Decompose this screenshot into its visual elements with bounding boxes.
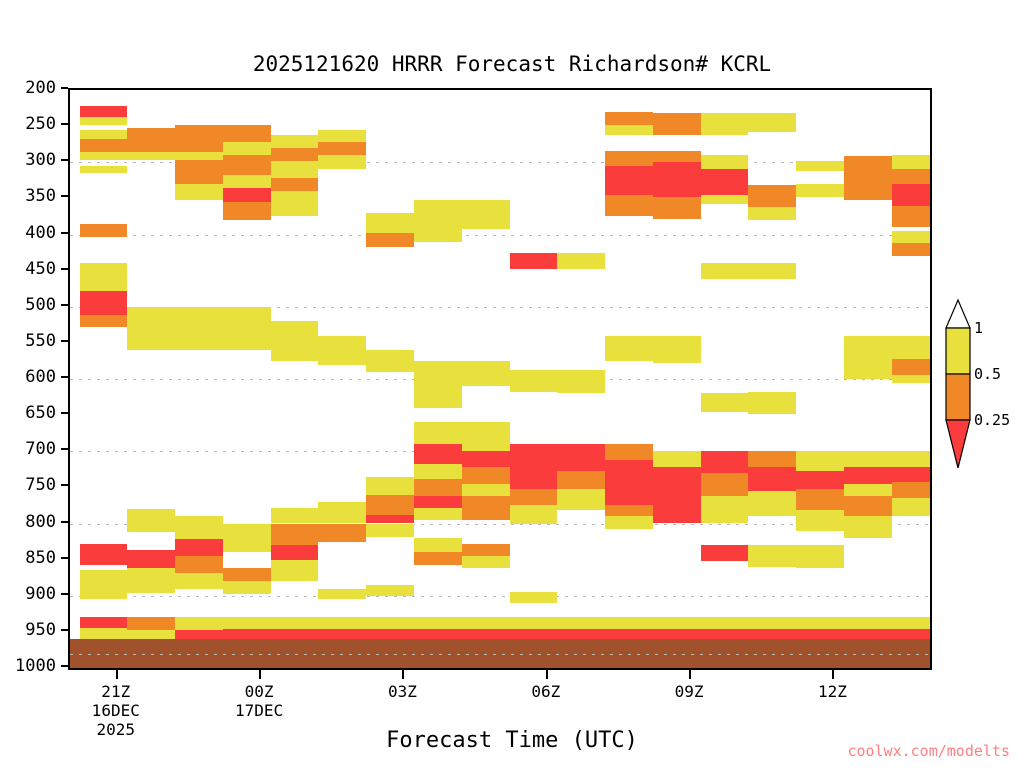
heatmap-cell <box>414 508 462 520</box>
y-tick-250 <box>61 123 68 125</box>
heatmap-cell <box>462 200 510 229</box>
heatmap-cell <box>796 161 844 171</box>
x-tick-label-03Z: 03Z <box>388 682 417 701</box>
heatmap-cell <box>892 243 932 256</box>
chart-canvas: 2025121620 HRRR Forecast Richardson# KCR… <box>0 0 1024 768</box>
heatmap-cell <box>318 617 366 629</box>
heatmap-cell <box>892 155 932 169</box>
heatmap-cell <box>701 113 749 135</box>
heatmap-cell <box>223 125 271 142</box>
heatmap-cell <box>557 253 605 270</box>
heatmap-cell <box>462 556 510 568</box>
heatmap-cell <box>510 444 558 469</box>
heatmap-cell <box>892 498 932 516</box>
x-tick-12Z <box>832 670 834 679</box>
heatmap-cell <box>223 568 271 581</box>
heatmap-cell <box>462 361 510 386</box>
x-tick-06Z <box>546 670 548 679</box>
heatmap-cell <box>701 263 749 279</box>
y-tick-200 <box>61 87 68 89</box>
heatmap-cell <box>318 629 366 639</box>
heatmap-cell <box>796 510 844 530</box>
heatmap-cell <box>605 151 653 165</box>
x-tick-03Z <box>402 670 404 679</box>
heatmap-cell <box>271 321 319 361</box>
heatmap-cell <box>748 491 796 516</box>
heatmap-cell <box>748 113 796 132</box>
heatmap-cell <box>892 359 932 376</box>
heatmap-cell <box>844 617 892 629</box>
y-tick-550 <box>61 340 68 342</box>
heatmap-cell <box>653 495 701 524</box>
heatmap-cell <box>605 505 653 516</box>
heatmap-cell <box>127 617 175 630</box>
heatmap-cell <box>175 169 223 183</box>
heatmap-cell <box>892 467 932 481</box>
y-tick-label-950: 950 <box>25 620 56 640</box>
x-tick-label-09Z: 09Z <box>675 682 704 701</box>
heatmap-cell <box>605 444 653 460</box>
y-tick-350 <box>61 195 68 197</box>
heatmap-cell <box>510 469 558 489</box>
y-tick-label-600: 600 <box>25 367 56 387</box>
x-tick-00Z <box>259 670 261 679</box>
heatmap-cell <box>80 166 128 173</box>
heatmap-cell <box>653 113 701 135</box>
heatmap-cell <box>462 467 510 484</box>
heatmap-cell <box>653 629 701 639</box>
heatmap-cell <box>748 207 796 220</box>
heatmap-cell <box>892 617 932 629</box>
heatmap-cell <box>844 169 892 183</box>
heatmap-cell <box>748 545 796 567</box>
chart-title: 2025121620 HRRR Forecast Richardson# KCR… <box>0 52 1024 76</box>
heatmap-cell <box>127 325 175 350</box>
heatmap-cell <box>796 617 844 629</box>
heatmap-cell <box>844 366 892 379</box>
heatmap-cell <box>844 336 892 366</box>
heatmap-cell <box>223 142 271 155</box>
heatmap-cell <box>175 152 223 160</box>
heatmap-cell <box>557 471 605 488</box>
heatmap-cell <box>796 184 844 197</box>
heatmap-cell <box>414 552 462 565</box>
heatmap-cell <box>271 191 319 216</box>
heatmap-cell <box>175 125 223 152</box>
heatmap-cell <box>462 451 510 467</box>
heatmap-cell <box>80 628 128 639</box>
heatmap-cell <box>414 464 462 478</box>
heatmap-cell <box>892 169 932 183</box>
heatmap-cell <box>366 213 414 233</box>
heatmap-cell <box>271 508 319 524</box>
heatmap-cell <box>462 484 510 496</box>
heatmap-cell <box>701 629 749 639</box>
heatmap-cells <box>70 90 930 668</box>
y-tick-450 <box>61 268 68 270</box>
heatmap-cell <box>271 560 319 582</box>
heatmap-cell <box>796 545 844 568</box>
y-tick-600 <box>61 376 68 378</box>
y-tick-950 <box>61 629 68 631</box>
heatmap-cell <box>844 156 892 169</box>
heatmap-cell <box>892 206 932 228</box>
heatmap-cell <box>127 568 175 593</box>
heatmap-cell <box>557 617 605 629</box>
heatmap-cell <box>605 195 653 217</box>
heatmap-cell <box>127 128 175 140</box>
heatmap-cell <box>271 617 319 629</box>
gridline-1000 <box>70 668 930 669</box>
x-tick-label-00Z: 00Z17DEC <box>235 682 283 720</box>
heatmap-cell <box>892 336 932 359</box>
heatmap-cell <box>366 350 414 372</box>
y-tick-label-1000: 1000 <box>15 656 56 676</box>
heatmap-cell <box>557 370 605 393</box>
heatmap-cell <box>701 169 749 194</box>
heatmap-cell <box>892 184 932 206</box>
heatmap-cell <box>701 393 749 411</box>
heatmap-cell <box>557 629 605 639</box>
heatmap-cell <box>510 505 558 523</box>
heatmap-cell <box>414 379 462 408</box>
heatmap-cell <box>748 392 796 414</box>
heatmap-plot-area <box>68 88 932 670</box>
heatmap-cell <box>414 538 462 552</box>
heatmap-cell <box>127 152 175 160</box>
heatmap-cell <box>80 224 128 237</box>
heatmap-cell <box>80 315 128 327</box>
heatmap-cell <box>271 545 319 559</box>
heatmap-cell <box>318 155 366 169</box>
heatmap-cell <box>271 148 319 161</box>
heatmap-cell <box>462 422 510 451</box>
heatmap-cell <box>796 451 844 471</box>
x-tick-label-06Z: 06Z <box>531 682 560 701</box>
heatmap-cell <box>80 152 128 160</box>
y-tick-400 <box>61 232 68 234</box>
heatmap-cell <box>844 516 892 538</box>
heatmap-cell <box>223 524 271 553</box>
terrain-gridline <box>70 654 930 655</box>
y-tick-1000 <box>61 665 68 667</box>
colorbar-label-1: 1 <box>974 319 983 337</box>
heatmap-cell <box>701 545 749 561</box>
heatmap-cell <box>414 422 462 444</box>
heatmap-cell <box>701 155 749 169</box>
heatmap-cell <box>892 482 932 499</box>
heatmap-cell <box>844 484 892 496</box>
heatmap-cell <box>844 467 892 484</box>
y-tick-label-900: 900 <box>25 584 56 604</box>
heatmap-cell <box>653 467 701 494</box>
y-tick-label-750: 750 <box>25 475 56 495</box>
x-axis-ticks: 21Z16DEC202500Z17DEC03Z06Z09Z12Z <box>68 670 932 680</box>
heatmap-cell <box>175 307 223 350</box>
heatmap-cell <box>844 184 892 200</box>
y-tick-label-350: 350 <box>25 186 56 206</box>
heatmap-cell <box>605 629 653 639</box>
heatmap-cell <box>223 307 271 350</box>
heatmap-cell <box>653 617 701 629</box>
colorbar: 1 0.5 0.25 <box>944 298 1024 482</box>
heatmap-cell <box>414 479 462 496</box>
y-tick-label-250: 250 <box>25 114 56 134</box>
heatmap-cell <box>366 585 414 596</box>
heatmap-cell <box>748 263 796 279</box>
y-tick-label-550: 550 <box>25 331 56 351</box>
x-tick-21Z <box>116 670 118 679</box>
heatmap-cell <box>844 496 892 516</box>
heatmap-cell <box>748 185 796 207</box>
watermark: coolwx.com/modelts <box>847 742 1010 760</box>
heatmap-cell <box>748 629 796 639</box>
heatmap-cell <box>127 509 175 532</box>
heatmap-cell <box>175 617 223 630</box>
heatmap-cell <box>175 556 223 573</box>
heatmap-cell <box>701 473 749 496</box>
heatmap-cell <box>510 592 558 603</box>
heatmap-cell <box>510 489 558 506</box>
heatmap-cell <box>175 573 223 589</box>
heatmap-cell <box>366 495 414 515</box>
heatmap-cell <box>80 117 128 124</box>
heatmap-cell <box>605 486 653 506</box>
heatmap-cell <box>653 175 701 197</box>
y-tick-300 <box>61 159 68 161</box>
heatmap-cell <box>462 544 510 556</box>
heatmap-cell <box>748 467 796 491</box>
heatmap-cell <box>653 197 701 219</box>
heatmap-cell <box>80 570 128 599</box>
colorbar-svg <box>944 298 1024 478</box>
y-axis-labels: 2002503003504004505005506006507007508008… <box>0 88 68 670</box>
heatmap-cell <box>127 630 175 639</box>
heatmap-cell <box>223 581 271 594</box>
heatmap-cell <box>318 502 366 524</box>
heatmap-cell <box>653 151 701 162</box>
heatmap-cell <box>557 489 605 511</box>
heatmap-cell <box>175 539 223 556</box>
heatmap-cell <box>414 361 462 379</box>
heatmap-cell <box>844 629 892 639</box>
heatmap-cell <box>318 142 366 155</box>
heatmap-cell <box>271 135 319 148</box>
y-tick-label-450: 450 <box>25 259 56 279</box>
heatmap-cell <box>80 617 128 628</box>
heatmap-cell <box>223 155 271 175</box>
heatmap-cell <box>414 496 462 508</box>
heatmap-cell <box>462 496 510 520</box>
heatmap-cell <box>892 451 932 467</box>
heatmap-cell <box>510 253 558 270</box>
heatmap-cell <box>366 524 414 537</box>
heatmap-cell <box>701 451 749 473</box>
heatmap-cell <box>175 184 223 200</box>
y-tick-label-650: 650 <box>25 403 56 423</box>
heatmap-cell <box>653 336 701 363</box>
heatmap-cell <box>892 375 932 382</box>
heatmap-cell <box>462 617 510 629</box>
heatmap-cell <box>701 195 749 204</box>
heatmap-cell <box>271 178 319 191</box>
terrain-band <box>70 639 930 668</box>
heatmap-cell <box>318 130 366 142</box>
heatmap-cell <box>80 291 128 316</box>
heatmap-cell <box>605 516 653 529</box>
heatmap-cell <box>414 444 462 464</box>
heatmap-cell <box>844 451 892 467</box>
heatmap-cell <box>366 233 414 247</box>
heatmap-cell <box>80 263 128 290</box>
heatmap-cell <box>701 617 749 629</box>
y-tick-750 <box>61 484 68 486</box>
heatmap-cell <box>653 162 701 175</box>
heatmap-cell <box>271 629 319 639</box>
heatmap-cell <box>414 617 462 629</box>
heatmap-cell <box>318 336 366 365</box>
heatmap-cell <box>127 550 175 569</box>
heatmap-cell <box>271 524 319 546</box>
heatmap-cell <box>80 106 128 118</box>
heatmap-cell <box>557 444 605 471</box>
y-tick-label-400: 400 <box>25 223 56 243</box>
heatmap-cell <box>318 524 366 543</box>
heatmap-cell <box>318 589 366 600</box>
colorbar-label-0.5: 0.5 <box>974 365 1001 383</box>
heatmap-cell <box>366 515 414 524</box>
heatmap-cell <box>510 370 558 392</box>
heatmap-cell <box>796 471 844 488</box>
y-tick-800 <box>61 521 68 523</box>
y-tick-label-200: 200 <box>25 78 56 98</box>
heatmap-cell <box>653 451 701 467</box>
heatmap-cell <box>223 175 271 188</box>
heatmap-cell <box>796 489 844 511</box>
x-tick-label-12Z: 12Z <box>818 682 847 701</box>
heatmap-cell <box>510 617 558 629</box>
y-tick-650 <box>61 412 68 414</box>
heatmap-cell <box>892 629 932 639</box>
heatmap-cell <box>605 617 653 629</box>
heatmap-cell <box>366 617 414 629</box>
heatmap-cell <box>605 125 653 135</box>
heatmap-cell <box>414 227 462 241</box>
y-tick-900 <box>61 593 68 595</box>
heatmap-cell <box>748 617 796 629</box>
heatmap-cell <box>605 336 653 361</box>
x-tick-09Z <box>689 670 691 679</box>
y-tick-700 <box>61 448 68 450</box>
heatmap-cell <box>223 617 271 629</box>
heatmap-cell <box>796 629 844 639</box>
y-tick-label-800: 800 <box>25 512 56 532</box>
heatmap-cell <box>414 200 462 227</box>
heatmap-cell <box>414 629 462 639</box>
heatmap-cell <box>605 460 653 486</box>
y-tick-label-500: 500 <box>25 295 56 315</box>
heatmap-cell <box>80 139 128 152</box>
heatmap-cell <box>175 160 223 169</box>
heatmap-cell <box>510 629 558 639</box>
heatmap-cell <box>223 202 271 220</box>
heatmap-cell <box>223 188 271 202</box>
y-tick-label-700: 700 <box>25 439 56 459</box>
heatmap-cell <box>462 629 510 639</box>
heatmap-cell <box>175 630 223 639</box>
heatmap-cell <box>366 477 414 495</box>
heatmap-cell <box>127 307 175 325</box>
heatmap-cell <box>748 451 796 467</box>
heatmap-cell <box>80 130 128 139</box>
heatmap-cell <box>271 161 319 178</box>
heatmap-cell <box>223 629 271 639</box>
heatmap-cell <box>366 629 414 639</box>
y-tick-500 <box>61 304 68 306</box>
heatmap-cell <box>892 231 932 243</box>
y-tick-label-850: 850 <box>25 548 56 568</box>
heatmap-cell <box>605 112 653 125</box>
heatmap-cell <box>605 166 653 195</box>
heatmap-cell <box>80 544 128 566</box>
heatmap-cell <box>175 516 223 539</box>
heatmap-cell <box>127 139 175 152</box>
y-tick-label-300: 300 <box>25 150 56 170</box>
heatmap-cell <box>701 496 749 523</box>
y-tick-850 <box>61 557 68 559</box>
colorbar-label-0.25: 0.25 <box>974 411 1010 429</box>
